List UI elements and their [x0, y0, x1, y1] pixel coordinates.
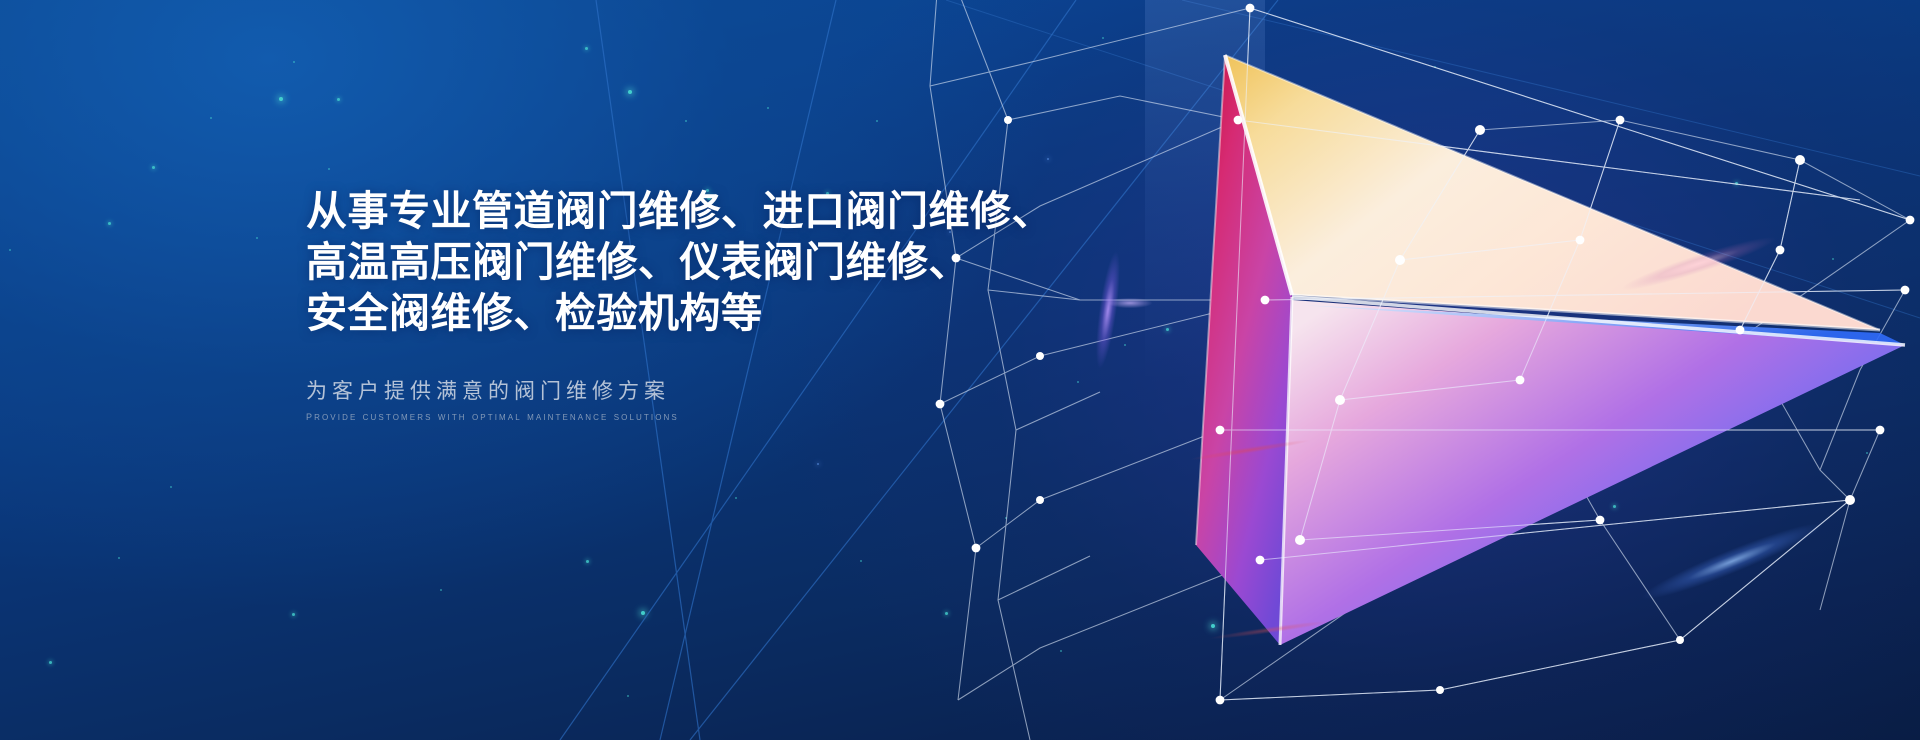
wireframe-network — [930, 0, 1910, 740]
hero-copy-block: 从事专业管道阀门维修、进口阀门维修、 高温高压阀门维修、仪表阀门维修、 安全阀维… — [306, 186, 1066, 423]
violet-lens-flare-secondary — [1100, 290, 1160, 316]
wireframe-overlay — [1220, 8, 1910, 700]
subtitle-english: Provide customers with optimal maintenan… — [306, 408, 1066, 423]
network-nodes — [936, 4, 1915, 705]
headline-line-2: 高温高压阀门维修、仪表阀门维修、 — [306, 237, 1066, 288]
violet-lens-flare — [1083, 224, 1132, 396]
pink-lens-flare-top-right — [1582, 180, 1838, 340]
headline-line-3: 安全阀维修、检验机构等 — [306, 288, 1066, 339]
red-streak-upper — [1158, 416, 1342, 484]
subtitle-chinese: 为客户提供满意的阀门维修方案 — [306, 377, 1066, 407]
prism-shape — [988, 55, 1905, 645]
hero-subtitle-block: 为客户提供满意的阀门维修方案 Provide customers with op… — [306, 377, 1066, 423]
blue-lens-flare-bottom-right — [1598, 438, 1920, 662]
abstract-3d-prism-network-graphic — [920, 0, 1920, 740]
headline-line-1: 从事专业管道阀门维修、进口阀门维修、 — [306, 186, 1066, 237]
red-streak-lower — [1178, 598, 1362, 663]
hero-headline: 从事专业管道阀门维修、进口阀门维修、 高温高压阀门维修、仪表阀门维修、 安全阀维… — [306, 186, 1066, 339]
hero-banner: 从事专业管道阀门维修、进口阀门维修、 高温高压阀门维修、仪表阀门维修、 安全阀维… — [0, 0, 1920, 740]
vertical-glow-column — [1145, 0, 1265, 380]
